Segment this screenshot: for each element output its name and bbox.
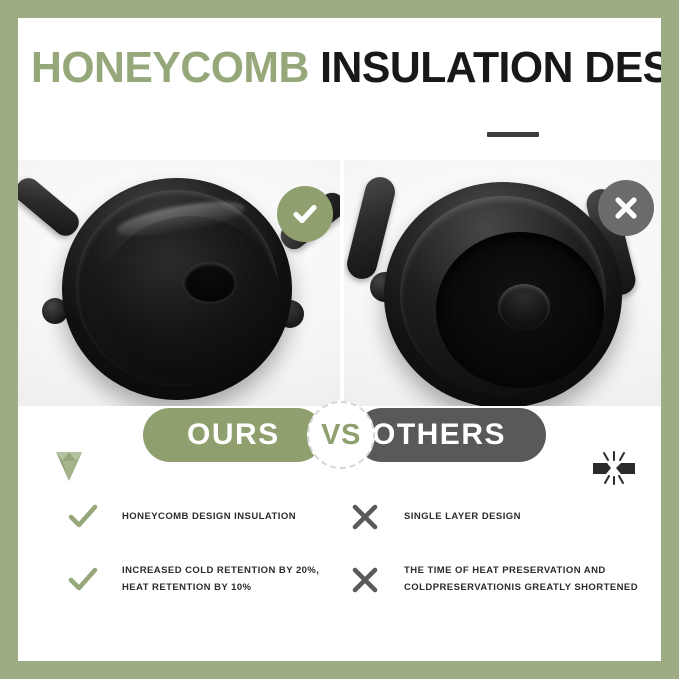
pot-center-boss (498, 284, 550, 330)
x-badge (598, 180, 654, 236)
product-photo-others (344, 160, 661, 406)
feature-row-ours-1: HONEYCOMB DESIGN INSULATION (66, 500, 356, 534)
infographic-canvas: HONEYCOMB INSULATION DESIGN (18, 18, 661, 661)
check-badge (277, 186, 333, 242)
x-icon (348, 563, 382, 597)
ours-label: OURS (187, 418, 280, 452)
broken-bar-icon (590, 450, 638, 491)
versus-label: VS (321, 419, 361, 452)
x-icon (348, 500, 382, 534)
pot-lid-knob-hole (184, 262, 236, 302)
feature-label: HONEYCOMB DESIGN INSULATION (122, 509, 296, 526)
pot-interior-others (436, 232, 604, 388)
feature-row-others-1: SINGLE LAYER DESIGN (348, 500, 648, 534)
pot-body-others (384, 182, 622, 406)
feature-row-ours-2: INCREASED COLD RETENTION BY 20%, HEAT RE… (66, 563, 356, 597)
pot-body-ours (62, 178, 292, 400)
feature-label: INCREASED COLD RETENTION BY 20%, HEAT RE… (122, 563, 319, 596)
product-photo-ours (18, 160, 340, 406)
pot-rim-others (400, 196, 606, 394)
title-rest: INSULATION DESIGN (309, 43, 661, 92)
feature-row-others-2: THE TIME OF HEAT PRESERVATION AND COLDPR… (348, 563, 648, 597)
infographic-page: HONEYCOMB INSULATION DESIGN (0, 0, 679, 679)
title-divider-rule (487, 132, 539, 137)
pot-rim-ours (76, 190, 278, 386)
feature-label: THE TIME OF HEAT PRESERVATION AND COLDPR… (404, 563, 638, 596)
others-label: OTHERS (372, 418, 506, 452)
pot-lid-ours (100, 216, 280, 384)
check-icon (66, 500, 100, 534)
feature-label: SINGLE LAYER DESIGN (404, 509, 521, 526)
versus-badge: VS (307, 401, 375, 469)
page-title: HONEYCOMB INSULATION DESIGN (31, 46, 632, 90)
check-icon (66, 563, 100, 597)
title-highlight: HONEYCOMB (31, 43, 309, 92)
diamond-gem-icon (49, 448, 89, 489)
others-pill: OTHERS (355, 408, 546, 462)
ours-pill: OURS (143, 408, 324, 462)
